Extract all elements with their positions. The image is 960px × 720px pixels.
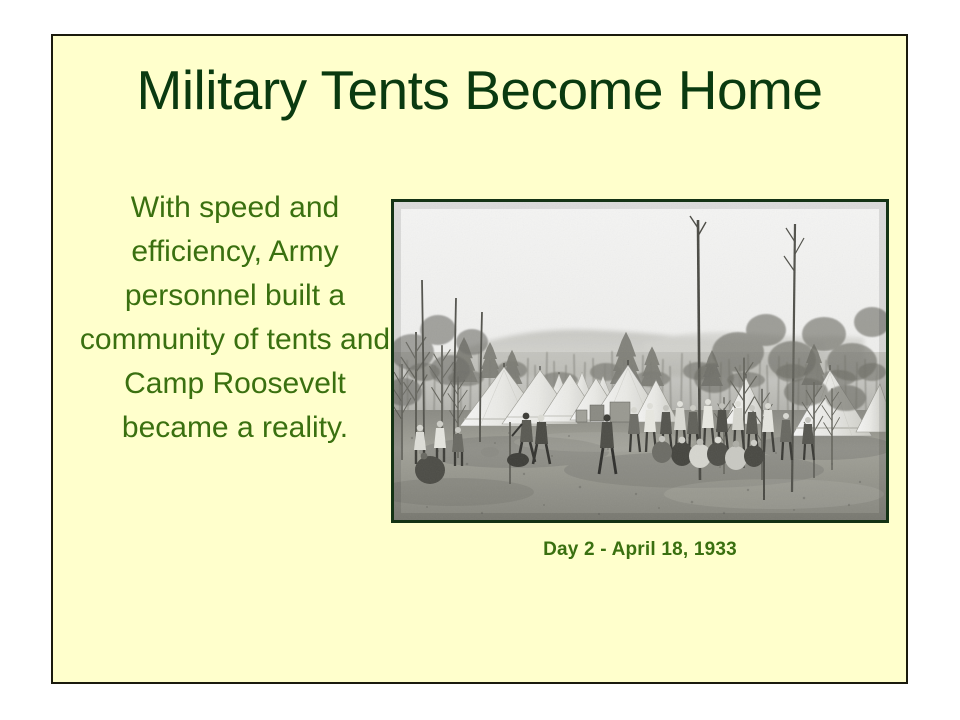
photo-block: Day 2 - April 18, 1933: [391, 199, 891, 561]
camp-photograph-illustration: [394, 202, 886, 520]
page-title: Military Tents Become Home: [53, 60, 906, 120]
slide-canvas: Military Tents Become Home With speed an…: [0, 0, 960, 720]
presentation-slide: Military Tents Become Home With speed an…: [51, 34, 908, 684]
slide-body-text: With speed and efficiency, Army personne…: [67, 186, 403, 450]
photo-caption: Day 2 - April 18, 1933: [391, 539, 889, 561]
camp-photograph: [391, 199, 889, 523]
